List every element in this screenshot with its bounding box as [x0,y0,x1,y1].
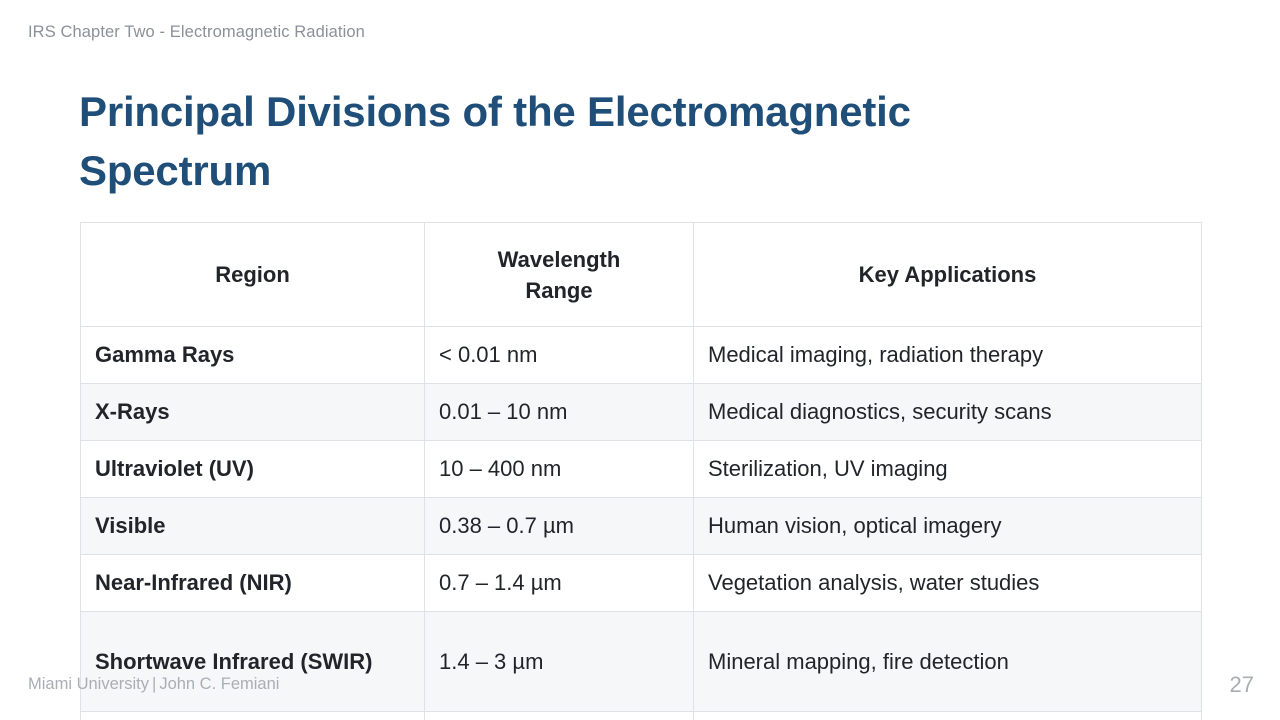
cell-region: Gamma Rays [81,327,425,384]
table-row: X-Rays 0.01 – 10 nm Medical diagnostics,… [81,384,1202,441]
spectrum-table-container: Region Wavelength Range Key Applications… [80,222,1201,720]
cell-region: Visible [81,498,425,555]
table-row: Shortwave Infrared (SWIR) 1.4 – 3 µm Min… [81,612,1202,712]
cell-key-applications: Medical diagnostics, security scans [694,384,1202,441]
footer-separator: | [149,675,159,693]
cell-key-applications: Vegetation analysis, water studies [694,555,1202,612]
table-row [81,712,1202,720]
slide: IRS Chapter Two - Electromagnetic Radiat… [0,0,1280,720]
cell-wavelength-range [425,712,694,720]
cell-key-applications: Sterilization, UV imaging [694,441,1202,498]
footer-institution: Miami University [28,675,149,693]
cell-key-applications: Human vision, optical imagery [694,498,1202,555]
page-number: 27 [1230,672,1254,698]
cell-wavelength-range: 0.7 – 1.4 µm [425,555,694,612]
cell-region: X-Rays [81,384,425,441]
column-header-wavelength-range-line2: Range [525,278,592,303]
cell-region: Shortwave Infrared (SWIR) [81,612,425,712]
breadcrumb: IRS Chapter Two - Electromagnetic Radiat… [28,23,365,42]
column-header-key-applications: Key Applications [694,223,1202,327]
column-header-region: Region [81,223,425,327]
column-header-wavelength-range: Wavelength Range [425,223,694,327]
page-title: Principal Divisions of the Electromagnet… [79,82,1089,200]
cell-region: Near-Infrared (NIR) [81,555,425,612]
cell-region [81,712,425,720]
table-header-row: Region Wavelength Range Key Applications [81,223,1202,327]
cell-wavelength-range: 0.38 – 0.7 µm [425,498,694,555]
table-row: Near-Infrared (NIR) 0.7 – 1.4 µm Vegetat… [81,555,1202,612]
footer-credit: Miami University|John C. Femiani [28,675,279,694]
cell-wavelength-range: 1.4 – 3 µm [425,612,694,712]
cell-wavelength-range: < 0.01 nm [425,327,694,384]
footer-author: John C. Femiani [159,675,279,693]
table-row: Gamma Rays < 0.01 nm Medical imaging, ra… [81,327,1202,384]
table-row: Visible 0.38 – 0.7 µm Human vision, opti… [81,498,1202,555]
table-header: Region Wavelength Range Key Applications [81,223,1202,327]
cell-region: Ultraviolet (UV) [81,441,425,498]
spectrum-table: Region Wavelength Range Key Applications… [80,222,1202,720]
cell-key-applications: Mineral mapping, fire detection [694,612,1202,712]
cell-key-applications [694,712,1202,720]
cell-key-applications: Medical imaging, radiation therapy [694,327,1202,384]
table-row: Ultraviolet (UV) 10 – 400 nm Sterilizati… [81,441,1202,498]
cell-wavelength-range: 10 – 400 nm [425,441,694,498]
cell-wavelength-range: 0.01 – 10 nm [425,384,694,441]
table-body: Gamma Rays < 0.01 nm Medical imaging, ra… [81,327,1202,720]
column-header-wavelength-range-line1: Wavelength [498,247,621,272]
cell-region-text: Shortwave Infrared (SWIR) [95,647,390,677]
